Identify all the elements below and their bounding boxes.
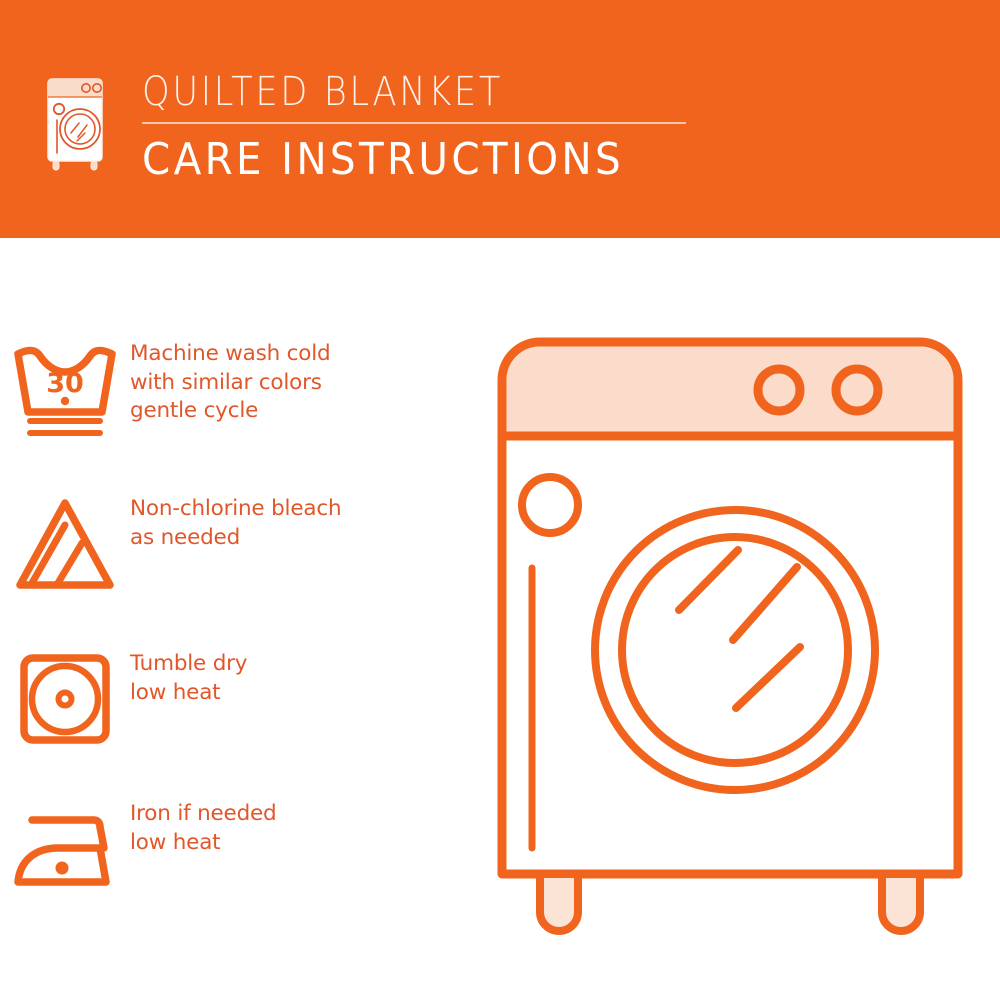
care-instructions-page: QUILTED BLANKET CARE INSTRUCTIONS 30: [0, 0, 1000, 1000]
page-title-line-2: CARE INSTRUCTIONS: [142, 134, 712, 186]
page-title-line-1: QUILTED BLANKET: [142, 68, 688, 116]
care-item-label-machine-wash: Machine wash cold with similar colors ge…: [130, 338, 330, 426]
non-chlorine-bleach-triangle-icon: [0, 493, 130, 595]
care-instruction-list: 30 Machine wash cold with similar colors…: [0, 238, 490, 1000]
front-load-washing-machine-illustration: [480, 320, 980, 940]
leg-right: [882, 874, 920, 931]
care-item-label-iron: Iron if needed low heat: [130, 798, 277, 857]
care-item-tumble-dry: Tumble dry low heat: [0, 648, 490, 750]
care-item-iron: Iron if needed low heat: [0, 798, 490, 900]
care-item-machine-wash: 30 Machine wash cold with similar colors…: [0, 338, 490, 440]
header-title-group: QUILTED BLANKET CARE INSTRUCTIONS: [142, 68, 762, 186]
wash-tub-30-gentle-icon: 30: [0, 338, 130, 440]
control-panel: [507, 347, 954, 437]
washing-machine-icon: [44, 67, 110, 171]
page-header: QUILTED BLANKET CARE INSTRUCTIONS: [0, 0, 1000, 238]
care-item-label-tumble-dry: Tumble dry low heat: [130, 648, 247, 707]
iron-low-heat-icon: [0, 798, 130, 900]
title-divider: [142, 122, 686, 124]
leg-left: [540, 874, 578, 931]
tumble-dry-low-heat-icon: [0, 648, 130, 750]
care-item-label-bleach: Non-chlorine bleach as needed: [130, 493, 341, 552]
care-item-bleach: Non-chlorine bleach as needed: [0, 493, 490, 595]
wash-temperature-label: 30: [46, 368, 84, 399]
